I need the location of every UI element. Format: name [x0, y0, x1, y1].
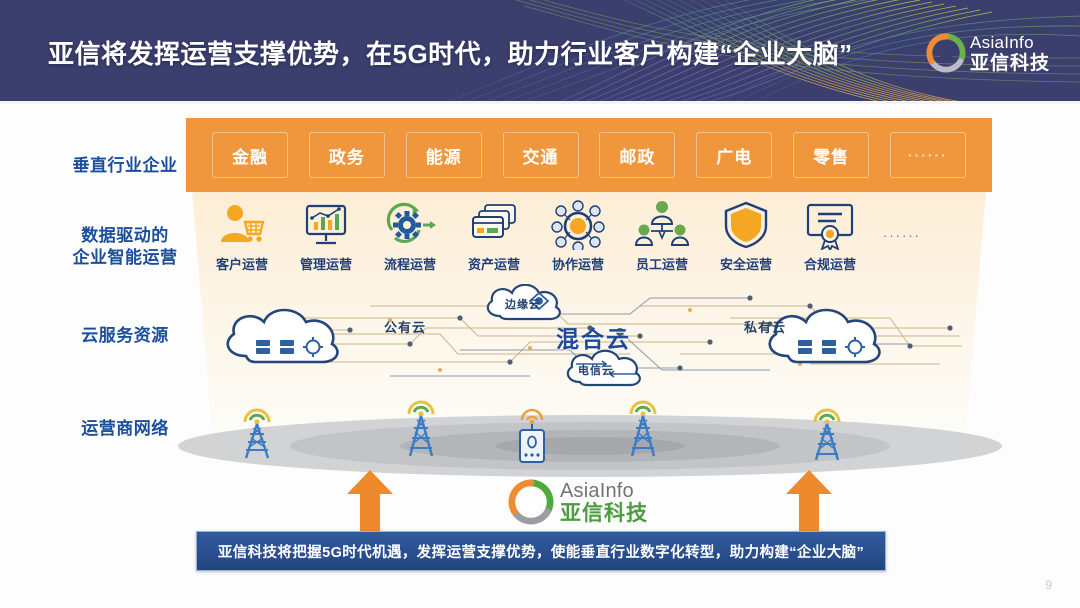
page-number: 9 [1045, 578, 1052, 592]
upward-arrow-left-icon [347, 470, 393, 532]
operation-item-collaboration[interactable]: 协作运营 [536, 200, 620, 273]
security-operations-icon [719, 200, 773, 250]
center-logo-cn: 亚信科技 [560, 503, 648, 524]
telecom-cloud-label: 电信云 [578, 362, 614, 378]
edge-cloud-label: 边缘云 [505, 296, 541, 312]
page-title: 亚信将发挥运营支撑优势，在5G时代，助力行业客户构建“企业大脑” [48, 30, 928, 78]
industry-chip-energy[interactable]: 能源 [406, 132, 482, 178]
header-logo-cn: 亚信科技 [970, 54, 1050, 73]
upward-arrow-right-icon [786, 470, 832, 532]
industry-chip-government[interactable]: 政务 [309, 132, 385, 178]
operation-label: 安全运营 [720, 254, 772, 273]
operation-item-employee[interactable]: 员工运营 [620, 200, 704, 273]
slide-header: 亚信将发挥运营支撑优势，在5G时代，助力行业客户构建“企业大脑” AsiaInf… [0, 0, 1080, 104]
summary-banner: 亚信科技将把握5G时代机遇，发挥运营支撑优势，使能垂直行业数字化转型，助力构建“… [196, 531, 886, 571]
row-label-line: 数据驱动的 [45, 225, 205, 247]
industry-chip-postal[interactable]: 邮政 [599, 132, 675, 178]
row-label-data-driven-operations: 数据驱动的 企业智能运营 [45, 225, 205, 269]
row-label-cloud-resources: 云服务资源 [45, 325, 205, 347]
asiainfo-ring-icon [926, 33, 966, 73]
management-operations-icon [299, 200, 353, 250]
operation-item-security[interactable]: 安全运营 [704, 200, 788, 273]
chip-label: 金融 [232, 143, 268, 168]
collaboration-operations-icon [551, 200, 605, 250]
employee-operations-icon [635, 200, 689, 250]
operator-network-graphic [175, 398, 1005, 484]
chip-label: ······ [908, 147, 948, 163]
operation-item-asset[interactable]: 资产运营 [452, 200, 536, 273]
operation-item-compliance[interactable]: 合规运营 [788, 200, 872, 273]
summary-banner-text: 亚信科技将把握5G时代机遇，发挥运营支撑优势，使能垂直行业数字化转型，助力构建“… [218, 541, 864, 562]
industry-chip-finance[interactable]: 金融 [212, 132, 288, 178]
operation-item-customer[interactable]: 客户运营 [200, 200, 284, 273]
process-operations-icon [383, 200, 437, 250]
operation-label: 员工运营 [636, 254, 688, 273]
industry-chip-more[interactable]: ······ [890, 132, 966, 178]
row-label-line: 垂直行业企业 [45, 155, 205, 177]
chip-label: 能源 [426, 143, 462, 168]
chip-label: 邮政 [619, 143, 655, 168]
header-logo-en: AsiaInfo [970, 34, 1050, 51]
operation-label: 合规运营 [804, 254, 856, 273]
public-cloud-label: 公有云 [384, 317, 426, 336]
industry-chip-list: 金融 政务 能源 交通 邮政 广电 零售 ······ [186, 118, 992, 192]
slide-root: 亚信将发挥运营支撑优势，在5G时代，助力行业客户构建“企业大脑” AsiaInf… [0, 0, 1080, 608]
row-label-vertical-industry: 垂直行业企业 [45, 155, 205, 177]
asset-operations-icon [467, 200, 521, 250]
operation-label: 管理运营 [300, 254, 352, 273]
operation-item-management[interactable]: 管理运营 [284, 200, 368, 273]
chip-label: 政务 [329, 143, 365, 168]
operation-label: 客户运营 [216, 254, 268, 273]
chip-label: 广电 [716, 143, 752, 168]
customer-operations-icon [215, 200, 269, 250]
operation-label: 流程运营 [384, 254, 436, 273]
center-logo-en: AsiaInfo [560, 481, 648, 501]
operation-label: 资产运营 [468, 254, 520, 273]
center-asiainfo-logo: AsiaInfo 亚信科技 [508, 476, 688, 528]
hybrid-cloud-label: 混合云 [556, 320, 631, 354]
chip-label: 零售 [813, 143, 849, 168]
compliance-operations-icon [803, 200, 857, 250]
operations-more-label: ······ [872, 200, 932, 243]
asiainfo-ring-icon [508, 479, 554, 525]
industry-chip-transport[interactable]: 交通 [503, 132, 579, 178]
private-cloud-label: 私有云 [744, 317, 786, 336]
operation-label: 协作运营 [552, 254, 604, 273]
industry-chip-retail[interactable]: 零售 [793, 132, 869, 178]
row-label-line: 云服务资源 [45, 325, 205, 347]
chip-label: 交通 [523, 143, 559, 168]
header-logo: AsiaInfo 亚信科技 [926, 18, 1066, 88]
operation-item-process[interactable]: 流程运营 [368, 200, 452, 273]
operations-list: 客户运营 管理运营 [200, 200, 980, 282]
industry-chip-broadcast[interactable]: 广电 [696, 132, 772, 178]
row-label-line: 企业智能运营 [45, 247, 205, 269]
